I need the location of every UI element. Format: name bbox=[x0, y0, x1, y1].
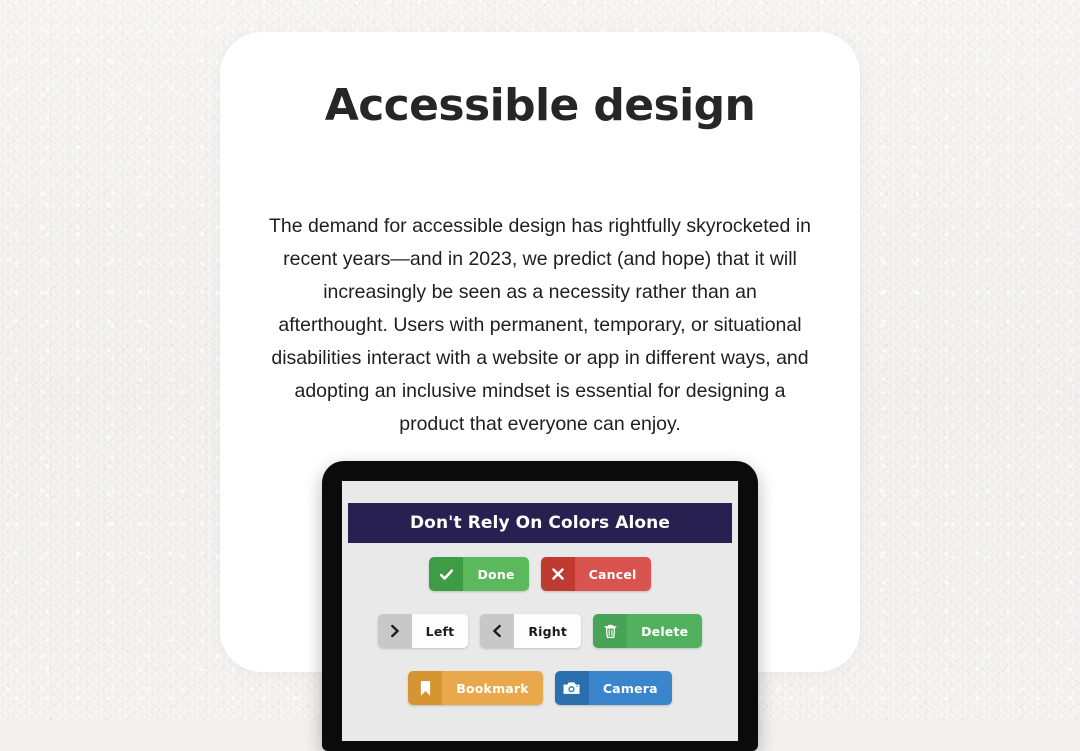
chevron-left-icon bbox=[480, 614, 514, 648]
cross-icon bbox=[541, 557, 575, 591]
demo-header-title: Don't Rely On Colors Alone bbox=[410, 513, 670, 533]
cancel-button-label: Cancel bbox=[575, 557, 651, 591]
left-button[interactable]: Left bbox=[378, 614, 469, 648]
check-icon bbox=[429, 557, 463, 591]
button-row-2: Left Right bbox=[342, 614, 738, 648]
trash-icon bbox=[593, 614, 627, 648]
right-button-label: Right bbox=[514, 614, 581, 648]
left-button-label: Left bbox=[412, 614, 469, 648]
page-title: Accessible design bbox=[220, 80, 860, 131]
done-button-label: Done bbox=[463, 557, 528, 591]
bookmark-button-label: Bookmark bbox=[442, 671, 543, 705]
button-row-3: Bookmark Camera bbox=[342, 671, 738, 705]
cancel-button[interactable]: Cancel bbox=[541, 557, 651, 591]
camera-button[interactable]: Camera bbox=[555, 671, 672, 705]
tablet-mockup: Don't Rely On Colors Alone Done Cancel bbox=[322, 461, 758, 751]
done-button[interactable]: Done bbox=[429, 557, 528, 591]
delete-button-label: Delete bbox=[627, 614, 702, 648]
button-row-1: Done Cancel bbox=[342, 557, 738, 591]
camera-icon bbox=[555, 671, 589, 705]
body-paragraph: The demand for accessible design has rig… bbox=[268, 210, 812, 441]
right-button[interactable]: Right bbox=[480, 614, 581, 648]
bookmark-icon bbox=[408, 671, 442, 705]
demo-header-bar: Don't Rely On Colors Alone bbox=[348, 503, 732, 543]
tablet-screen: Don't Rely On Colors Alone Done Cancel bbox=[342, 481, 738, 741]
chevron-right-icon bbox=[378, 614, 412, 648]
bookmark-button[interactable]: Bookmark bbox=[408, 671, 543, 705]
delete-button[interactable]: Delete bbox=[593, 614, 702, 648]
camera-button-label: Camera bbox=[589, 671, 672, 705]
